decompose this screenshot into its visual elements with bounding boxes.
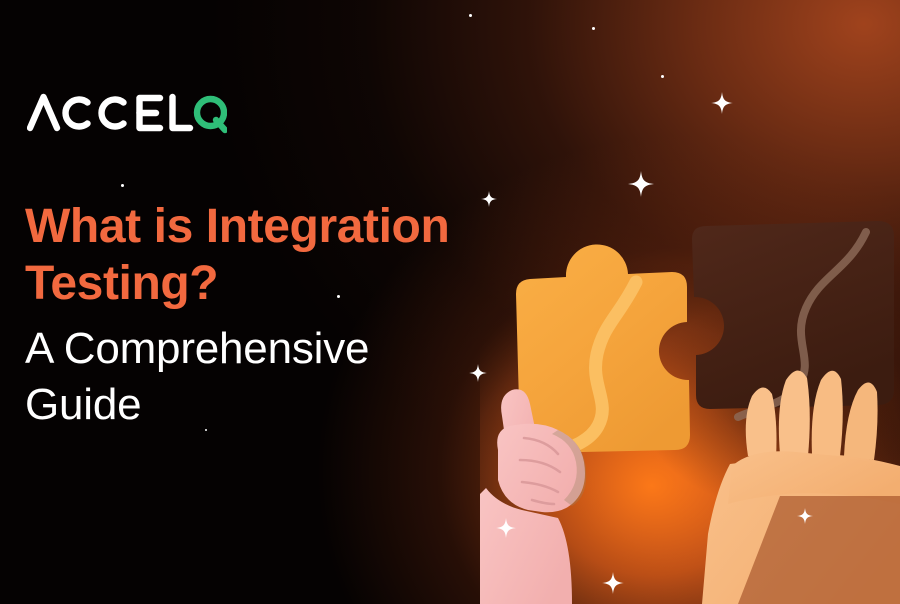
blog-banner: What is Integration Testing? A Comprehen… xyxy=(0,0,900,604)
page-subtitle: A Comprehensive Guide xyxy=(25,321,555,433)
headline-block: What is Integration Testing? A Comprehen… xyxy=(25,198,555,433)
page-title: What is Integration Testing? xyxy=(25,198,555,312)
